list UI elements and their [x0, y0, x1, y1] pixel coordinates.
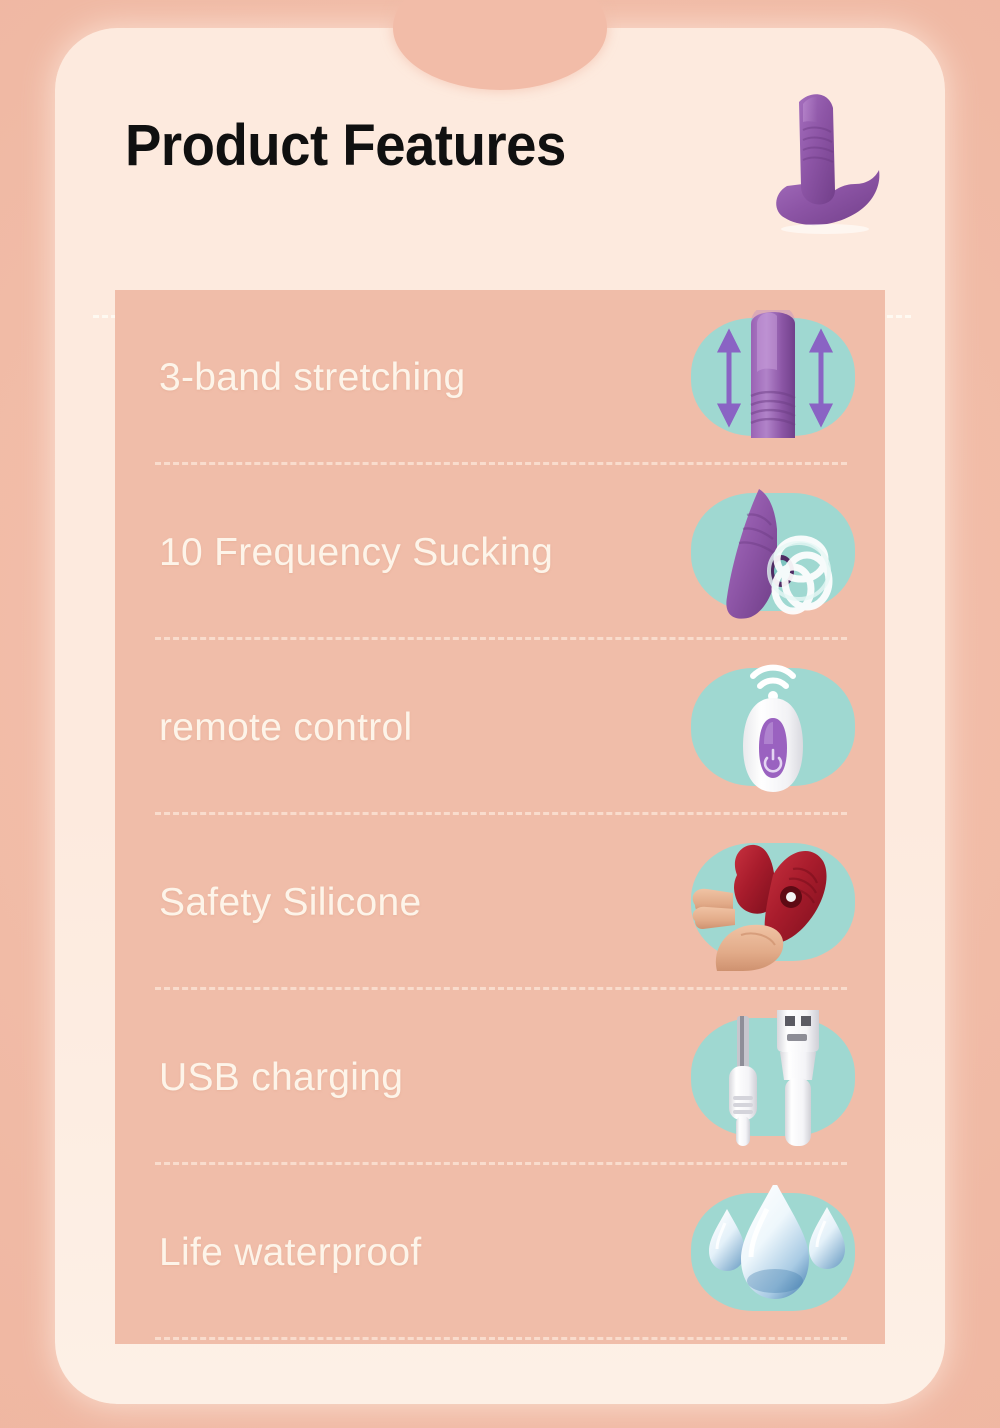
feature-row-life-waterproof[interactable]: Life waterproof: [115, 1165, 885, 1340]
feature-label: Safety Silicone: [159, 881, 421, 925]
row-divider: [155, 1337, 847, 1340]
feature-label: Life waterproof: [159, 1231, 421, 1275]
product-silhouette-icon: [763, 86, 893, 236]
feature-row-remote-control[interactable]: remote control: [115, 640, 885, 815]
card-top-notch: [393, 0, 607, 90]
feature-row-3-band-stretching[interactable]: 3-band stretching: [115, 290, 885, 465]
feature-row-usb-charging[interactable]: USB charging: [115, 990, 885, 1165]
card-header: Product Features: [55, 100, 945, 272]
feature-row-safety-silicone[interactable]: Safety Silicone: [115, 815, 885, 990]
feature-label: USB charging: [159, 1056, 403, 1100]
feature-label: 10 Frequency Sucking: [159, 531, 553, 575]
page-background: Product Features: [0, 0, 1000, 1428]
feature-label: remote control: [159, 706, 412, 750]
wireless-remote-icon: [681, 660, 865, 796]
thrusting-shaft-with-up-down-arrows-icon: [681, 310, 865, 446]
page-title: Product Features: [125, 112, 566, 179]
wifi-signal-icon: [753, 667, 793, 685]
suction-waves-icon: [681, 485, 865, 621]
water-droplets-icon: [681, 1185, 865, 1321]
usb-cable-icon: [681, 1010, 865, 1146]
feature-label: 3-band stretching: [159, 356, 465, 400]
feature-list-panel: 3-band stretching: [115, 290, 885, 1344]
hand-squeezing-silicone-icon: [681, 835, 865, 971]
feature-row-10-frequency-sucking[interactable]: 10 Frequency Sucking: [115, 465, 885, 640]
product-card: Product Features: [55, 28, 945, 1404]
